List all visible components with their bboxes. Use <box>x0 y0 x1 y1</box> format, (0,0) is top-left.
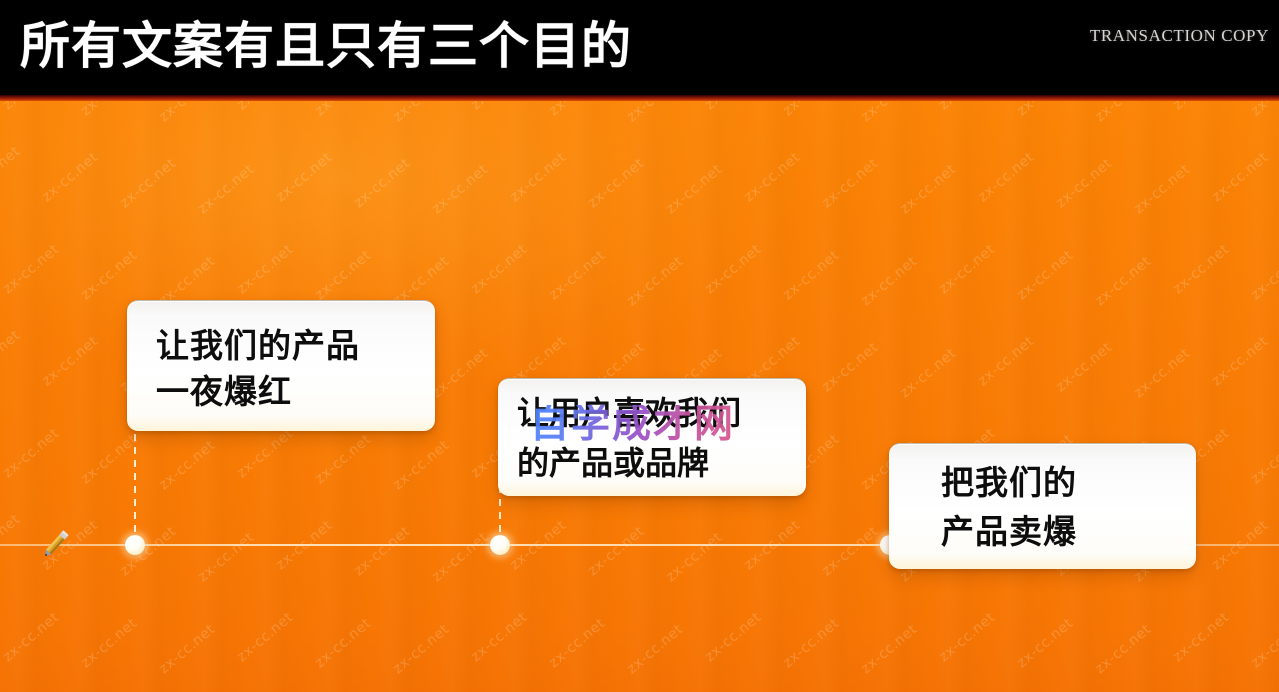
card-2-line-1: 让用户喜欢我们 <box>517 388 806 438</box>
timeline-node-1[interactable] <box>125 535 145 555</box>
card-1-line-2: 一夜爆红 <box>156 369 435 415</box>
timeline-node-2[interactable] <box>490 535 510 555</box>
slide-title: 所有文案有且只有三个目的 <box>20 8 632 84</box>
slide-header-bar: 所有文案有且只有三个目的 TRANSACTION COPY <box>0 0 1279 95</box>
card-2-line-2: 的产品或品牌 <box>517 438 806 488</box>
purpose-card-2[interactable]: 让用户喜欢我们 的产品或品牌 <box>498 378 806 496</box>
card-1-line-1: 让我们的产品 <box>156 323 435 369</box>
watermark-badge: TRANSACTION COPY <box>1090 26 1269 46</box>
presentation-slide: 所有文案有且只有三个目的 TRANSACTION COPY zx-cc.netz… <box>0 0 1279 692</box>
card-3-line-2: 产品卖爆 <box>941 507 1196 556</box>
card-3-line-1: 把我们的 <box>941 458 1196 507</box>
purpose-card-3[interactable]: 把我们的 产品卖爆 <box>889 443 1196 569</box>
slide-body: zx-cc.netzx-cc.netzx-cc.netzx-cc.netzx-c… <box>0 101 1279 692</box>
purpose-card-1[interactable]: 让我们的产品 一夜爆红 <box>127 300 435 431</box>
pencil-cursor-icon <box>33 525 75 567</box>
